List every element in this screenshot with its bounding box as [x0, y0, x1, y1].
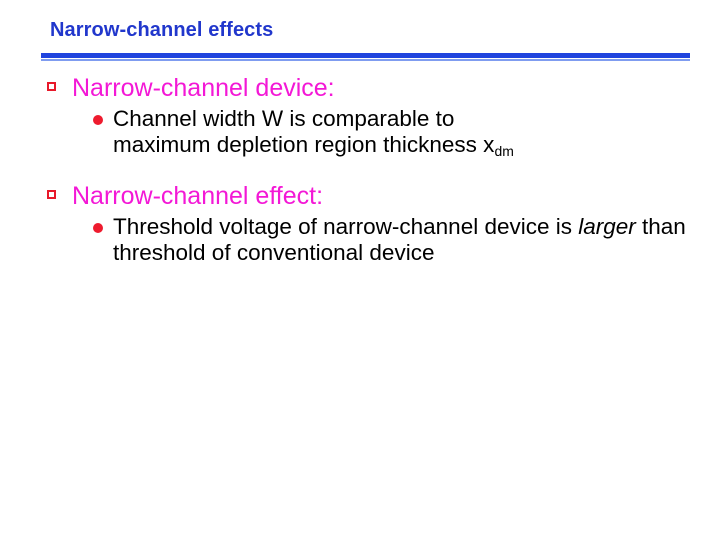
hollow-square-marker-icon — [47, 190, 56, 199]
page-title: Narrow-channel effects — [50, 19, 273, 42]
bullet-heading-narrow-channel-device: Narrow-channel device: — [0, 73, 720, 103]
title-divider-rule-accent — [41, 59, 690, 61]
bullet-text-line-2: maximum depletion region thickness x — [113, 132, 494, 157]
bullet-heading-narrow-channel-effect: Narrow-channel effect: — [0, 181, 720, 211]
bullet-item-channel-width: Channel width W is comparable to maximum… — [0, 106, 720, 160]
bullet-heading-label: Narrow-channel effect: — [72, 182, 323, 210]
slide-canvas: Narrow-channel effects Narrow-channel de… — [0, 0, 720, 540]
bullet-text-line-1: Channel width W is comparable to — [113, 106, 454, 131]
slide-body: Narrow-channel device: Channel width W i… — [0, 73, 720, 265]
bullet-text-part-1: Threshold voltage of narrow-channel devi… — [113, 214, 578, 239]
bullet-item-threshold-voltage: Threshold voltage of narrow-channel devi… — [0, 214, 720, 265]
bullet-heading-label: Narrow-channel device: — [72, 74, 335, 102]
disc-bullet-marker-icon — [93, 115, 103, 125]
hollow-square-marker-icon — [47, 82, 56, 91]
subscript-dm: dm — [494, 143, 513, 159]
bullet-text-emphasis: larger — [578, 214, 636, 239]
disc-bullet-marker-icon — [93, 223, 103, 233]
title-divider-rule — [41, 53, 690, 58]
